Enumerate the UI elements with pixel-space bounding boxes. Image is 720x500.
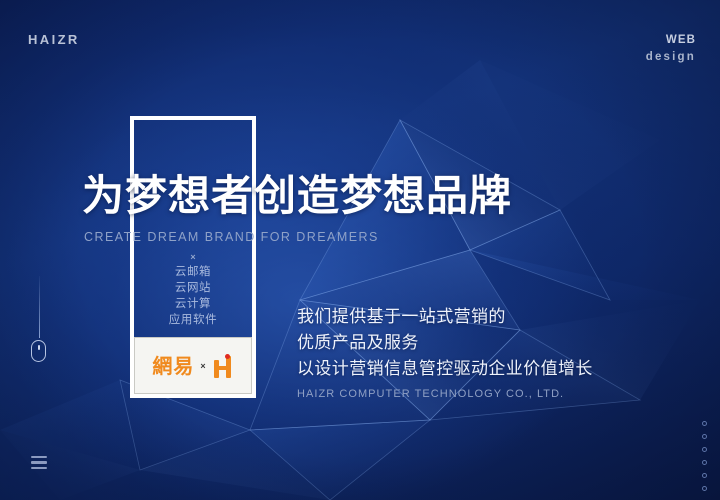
menu-item-applications[interactable]: 应用软件 (130, 312, 256, 328)
pagination-dot[interactable] (702, 421, 707, 426)
hamburger-menu-icon[interactable] (31, 456, 47, 469)
design-label: design (646, 49, 696, 66)
company-name: HAIZR COMPUTER TECHNOLOGY CO., LTD. (297, 388, 593, 400)
background-vignette (0, 0, 720, 500)
menu-marker-icon: × (130, 252, 256, 262)
logo-separator-icon: × (200, 361, 205, 371)
page-subtitle: CREATE DREAM BRAND FOR DREAMERS (84, 230, 379, 244)
page-title: 为梦想者创造梦想品牌 (82, 172, 512, 219)
web-label: WEB (646, 32, 696, 49)
vertical-menu: 云邮箱 云网站 云计算 应用软件 (130, 264, 256, 328)
haizr-h-mark-icon (212, 354, 234, 378)
hero-slide: HAIZR WEB design 为梦想者创造梦想品牌 CREATE DREAM… (0, 0, 720, 500)
description-line-3: 以设计营销信息管控驱动企业价值增长 (297, 356, 593, 382)
pagination-dot[interactable] (702, 473, 707, 478)
menu-item-cloud-computing[interactable]: 云计算 (130, 296, 256, 312)
pagination-dot[interactable] (702, 447, 707, 452)
decorative-frame-bottom (130, 394, 256, 398)
menu-item-cloud-website[interactable]: 云网站 (130, 280, 256, 296)
pagination-dot[interactable] (702, 434, 707, 439)
description-line-1: 我们提供基于一站式营销的 (297, 304, 593, 330)
netease-logo: 網易 (152, 356, 194, 376)
description-line-2: 优质产品及服务 (297, 330, 593, 356)
web-design-label: WEB design (646, 32, 696, 65)
scroll-hint-line (39, 276, 40, 338)
brand-logo[interactable]: HAIZR (28, 32, 80, 47)
pagination-dot[interactable] (702, 486, 707, 491)
partner-logo-box[interactable]: 網易 × (134, 337, 252, 394)
description-block: 我们提供基于一站式营销的 优质产品及服务 以设计营销信息管控驱动企业价值增长 H… (297, 304, 593, 400)
pagination-dot[interactable] (702, 460, 707, 465)
slide-pagination[interactable] (702, 421, 707, 491)
menu-item-cloud-mail[interactable]: 云邮箱 (130, 264, 256, 280)
mouse-scroll-icon[interactable] (31, 340, 46, 362)
